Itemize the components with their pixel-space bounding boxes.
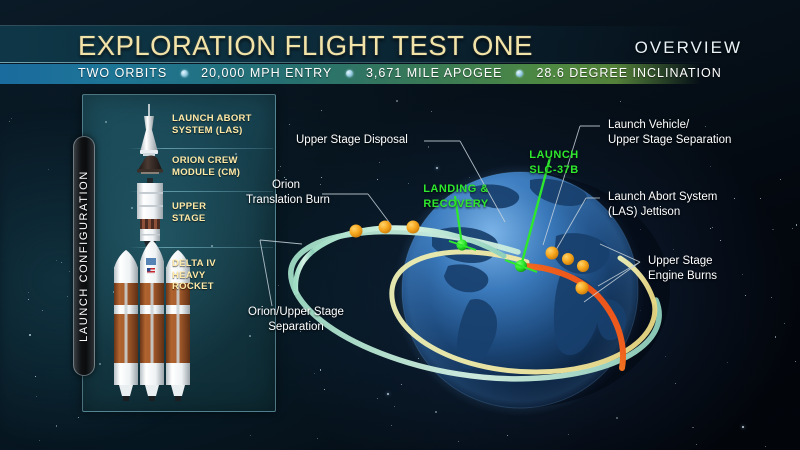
leader-orion-upper-separation-b [260,240,302,244]
event-dot-engine-burn-1 [577,260,589,272]
leader-orion-translation-b [368,194,392,226]
infographic-root: EXPLORATION FLIGHT TEST ONE OVERVIEW TWO… [0,0,800,450]
event-dot-upper-stage-disposal-b [407,221,420,234]
event-dot-upper-stage-disposal-a [379,221,392,234]
mission-profile-diagram [0,0,800,450]
callout-landing-recovery: LANDING & RECOVERY [410,182,502,211]
callout-orion-upper-stage-separation: Orion/Upper Stage Separation [232,305,360,334]
event-dot-engine-burn-2 [576,282,589,295]
callout-launch-site: LAUNCH SLC-37B [516,148,592,177]
callout-upper-stage-engine-burns: Upper Stage Engine Burns [648,254,717,283]
event-dot-las-jettison [562,253,574,265]
launch-configuration-tab-label: LAUNCH CONFIGURATION [78,170,90,342]
callout-las-jettison: Launch Abort System (LAS) Jettison [608,190,717,219]
launch-configuration-tab[interactable]: LAUNCH CONFIGURATION [73,136,95,376]
event-dot-orion-translation-burn [350,225,363,238]
event-dot-lv-separation [546,247,559,260]
callout-launch-vehicle-separation: Launch Vehicle/ Upper Stage Separation [608,118,731,147]
leader-orion-upper-separation [260,240,272,306]
callout-upper-stage-disposal: Upper Stage Disposal [296,133,408,148]
callout-orion-translation-burn: Orion Translation Burn [246,178,326,207]
